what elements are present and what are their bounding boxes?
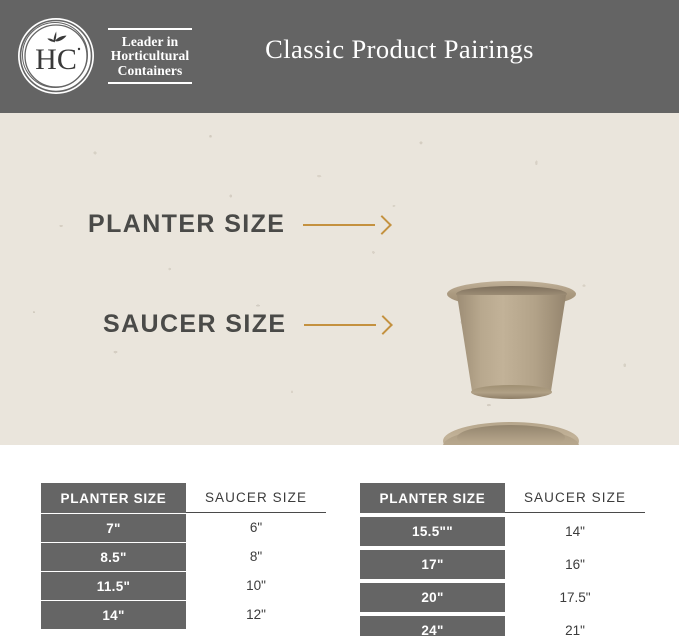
table-row: 24" 21"	[360, 616, 645, 636]
tagline-rule-bottom	[108, 82, 192, 84]
cell-saucer-size: 12"	[186, 600, 326, 629]
col-header-saucer: SAUCER SIZE	[505, 483, 645, 513]
cell-saucer-size: 16"	[505, 550, 645, 579]
cell-saucer-size: 8"	[186, 542, 326, 571]
header-bar: HC Leader in Horticultural Containers Cl…	[0, 0, 679, 113]
table-header-row: PLANTER SIZE SAUCER SIZE	[41, 483, 326, 513]
size-chart-right: PLANTER SIZE SAUCER SIZE 15.5"" 14" 17" …	[360, 483, 645, 636]
tagline-line-3: Containers	[108, 64, 192, 79]
saucer-size-label: SAUCER SIZE	[103, 310, 286, 339]
cell-planter-size: 17"	[360, 550, 505, 579]
table-row: 11.5" 10"	[41, 571, 326, 600]
planter-callout-row: PLANTER SIZE	[88, 210, 389, 239]
table-row: 15.5"" 14"	[360, 517, 645, 546]
cell-planter-size: 7"	[41, 513, 186, 542]
saucer-arrow-icon	[304, 317, 390, 333]
cell-saucer-size: 6"	[186, 513, 326, 542]
cell-saucer-size: 14"	[505, 517, 645, 546]
infographic-page: HC Leader in Horticultural Containers Cl…	[0, 0, 679, 636]
cell-saucer-size: 10"	[186, 571, 326, 600]
size-chart-left: PLANTER SIZE SAUCER SIZE 7" 6" 8.5" 8" 1…	[41, 483, 326, 629]
hero-section: PLANTER SIZE SAUCER SIZE	[0, 113, 679, 445]
cell-saucer-size: 17.5"	[505, 583, 645, 612]
cell-planter-size: 20"	[360, 583, 505, 612]
col-header-planter: PLANTER SIZE	[360, 483, 505, 513]
cell-planter-size: 24"	[360, 616, 505, 636]
cell-planter-size: 14"	[41, 600, 186, 629]
planter-arrow-icon	[303, 217, 389, 233]
cell-saucer-size: 21"	[505, 616, 645, 636]
planter-size-label: PLANTER SIZE	[88, 210, 285, 239]
table-header-row: PLANTER SIZE SAUCER SIZE	[360, 483, 645, 513]
cell-planter-size: 15.5""	[360, 517, 505, 546]
col-header-saucer: SAUCER SIZE	[186, 483, 326, 513]
table-row: 8.5" 8"	[41, 542, 326, 571]
saucer-callout-row: SAUCER SIZE	[103, 310, 390, 339]
col-header-planter: PLANTER SIZE	[41, 483, 186, 513]
table-row: 7" 6"	[41, 513, 326, 542]
table-row: 17" 16"	[360, 550, 645, 579]
page-title: Classic Product Pairings	[0, 34, 679, 65]
hero-texture	[0, 113, 679, 445]
table-row: 14" 12"	[41, 600, 326, 629]
cell-planter-size: 11.5"	[41, 571, 186, 600]
planter-pot-image	[447, 281, 576, 399]
table-row: 20" 17.5"	[360, 583, 645, 612]
saucer-dish-image	[443, 418, 579, 445]
cell-planter-size: 8.5"	[41, 542, 186, 571]
